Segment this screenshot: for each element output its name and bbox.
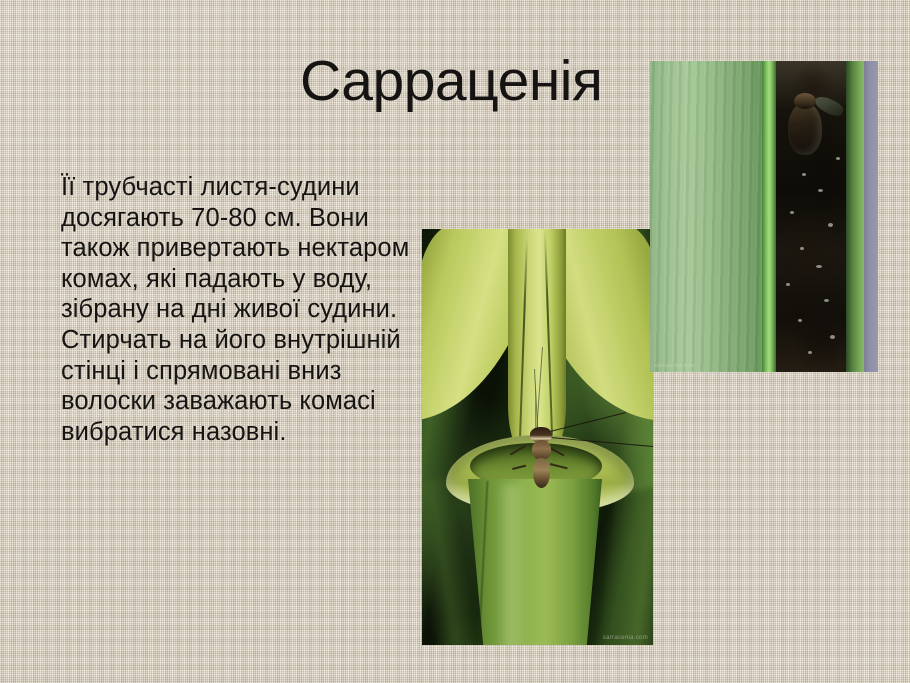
- debris-glint: [790, 211, 794, 214]
- debris-glint: [828, 223, 833, 227]
- insect-on-rim: [520, 425, 566, 497]
- debris-glint: [824, 299, 829, 302]
- debris-glint: [818, 189, 823, 192]
- tube-far-wall: [846, 61, 864, 372]
- insect-abdomen: [533, 458, 550, 488]
- insect-leg: [550, 447, 565, 456]
- debris-glint: [800, 247, 804, 250]
- pitcher-tube-highlight: [496, 485, 526, 645]
- image-watermark: sarracenia.com: [603, 635, 648, 641]
- tube-wall-striations: [650, 61, 774, 372]
- tube-wall-ridge: [762, 61, 776, 372]
- sarracenia-tube-interior-image: sarracenia.com: [650, 61, 878, 372]
- debris-glint: [816, 265, 822, 268]
- trapped-fly-body: [788, 103, 822, 155]
- debris-glint: [798, 319, 802, 322]
- sarracenia-pitcher-image: sarracenia.com: [422, 229, 653, 645]
- insect-leg: [550, 463, 568, 469]
- pitcher-tube: [468, 479, 602, 645]
- debris-glint: [802, 173, 806, 176]
- debris-glint: [836, 157, 840, 160]
- slide-canvas: Сарраценія Її трубчасті листя-судини дос…: [0, 0, 910, 683]
- debris-glint: [808, 351, 812, 354]
- body-paragraph: Її трубчасті листя-судини досягають 70-8…: [61, 172, 433, 447]
- insect-thorax: [532, 440, 551, 460]
- body-paragraph-text: Її трубчасті листя-судини досягають 70-8…: [61, 173, 409, 446]
- page-title: Сарраценія: [300, 48, 660, 114]
- debris-glint: [830, 335, 835, 339]
- trapped-fly-head: [794, 93, 816, 109]
- debris-glint: [786, 283, 790, 286]
- image-right-edge-strip: [864, 61, 878, 372]
- image-watermark: sarracenia.com: [654, 363, 694, 369]
